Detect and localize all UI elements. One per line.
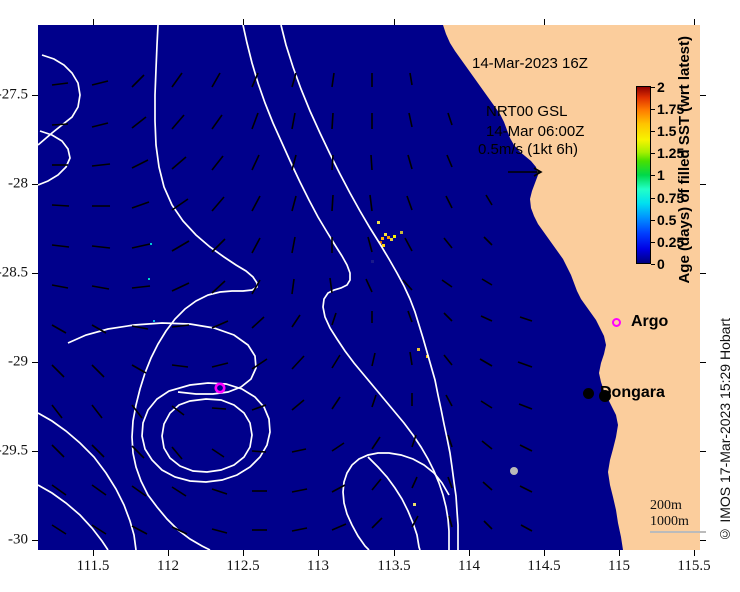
colorbar-tick-0 <box>651 264 655 265</box>
y-tick-right-4 <box>700 451 706 452</box>
argo-float-marker[interactable] <box>216 384 224 392</box>
legend-entry-argo[interactable]: Argo <box>612 313 668 331</box>
x-tick-label-6: 114.5 <box>527 558 560 575</box>
copyright-credit: © IMOS 17-Mar-2023 15:29 Hobart <box>717 318 733 543</box>
x-tick-label-2: 112.5 <box>226 558 259 575</box>
y-tick-4 <box>32 451 38 452</box>
y-tick-right-1 <box>700 184 706 185</box>
colorbar-gradient[interactable] <box>636 86 651 264</box>
colorbar-tick-8 <box>651 87 655 88</box>
x-tick-3 <box>318 550 319 556</box>
colorbar-tick-4 <box>651 175 655 176</box>
colorbar-label-2: 0.5 <box>657 212 676 228</box>
scalebar-label-200m: 200m <box>650 498 706 514</box>
colorbar-label-0: 0 <box>657 256 665 272</box>
colorbar-tick-3 <box>651 198 655 199</box>
y-tick-label-4: -29.5 <box>0 443 28 460</box>
colorbar-tick-5 <box>651 153 655 154</box>
x-tick-label-5: 114 <box>458 558 480 575</box>
colorbar-tick-7 <box>651 109 655 110</box>
y-tick-3 <box>32 362 38 363</box>
x-tick-top-2 <box>243 19 244 25</box>
colorbar-tick-2 <box>651 220 655 221</box>
depth-scalebar: 200m 1000m <box>650 498 706 533</box>
y-tick-label-1: -28 <box>0 176 28 193</box>
legend-label-argo: Argo <box>631 313 668 331</box>
legend-label-dongara: Dongara <box>600 384 665 402</box>
x-tick-top-0 <box>93 19 94 25</box>
x-tick-2 <box>243 550 244 556</box>
x-tick-label-8: 115.5 <box>677 558 710 575</box>
y-tick-right-3 <box>700 362 706 363</box>
dongara-marker-icon <box>583 388 594 399</box>
x-tick-7 <box>619 550 620 556</box>
x-tick-1 <box>168 550 169 556</box>
x-tick-label-3: 113 <box>307 558 329 575</box>
y-tick-right-2 <box>700 273 706 274</box>
y-tick-right-0 <box>700 95 706 96</box>
colorbar-label-8: 2 <box>657 79 665 95</box>
y-tick-2 <box>32 273 38 274</box>
x-tick-6 <box>544 550 545 556</box>
x-tick-top-6 <box>544 19 545 25</box>
x-tick-label-1: 112 <box>157 558 179 575</box>
marker-overlay-layer <box>38 25 700 550</box>
y-tick-5 <box>32 540 38 541</box>
scalebar-label-1000m: 1000m <box>650 514 706 530</box>
x-tick-0 <box>93 550 94 556</box>
x-tick-label-7: 115 <box>608 558 630 575</box>
x-tick-4 <box>394 550 395 556</box>
colorbar-label-4: 1 <box>657 167 665 183</box>
y-tick-label-5: -30 <box>0 532 28 549</box>
colorbar-label-6: 1.5 <box>657 123 676 139</box>
x-tick-label-4: 113.5 <box>377 558 410 575</box>
x-tick-top-8 <box>694 19 695 25</box>
x-tick-8 <box>694 550 695 556</box>
figure-canvas: 14-Mar-2023 16Z NRT00 GSL 14-Mar 06:00Z … <box>0 0 740 592</box>
y-tick-label-3: -29 <box>0 354 28 371</box>
y-tick-right-5 <box>700 540 706 541</box>
legend-entry-dongara: Dongara <box>583 384 665 402</box>
colorbar-title: Age (days) of filled SST (wrt latest) <box>676 36 693 284</box>
y-tick-1 <box>32 184 38 185</box>
colorbar-tick-1 <box>651 242 655 243</box>
y-tick-0 <box>32 95 38 96</box>
x-tick-5 <box>469 550 470 556</box>
y-tick-label-2: -28.5 <box>0 265 28 282</box>
argo-marker-icon <box>612 318 621 327</box>
colorbar[interactable]: 0 0.25 0.5 0.75 1 1.25 1.5 1.75 2 <box>636 86 651 264</box>
scalebar-rule <box>650 531 706 533</box>
x-tick-label-0: 111.5 <box>77 558 110 575</box>
y-tick-label-0: -27.5 <box>0 87 28 104</box>
map-plot-area[interactable]: 14-Mar-2023 16Z NRT00 GSL 14-Mar 06:00Z … <box>38 25 700 550</box>
x-tick-top-4 <box>394 19 395 25</box>
colorbar-tick-6 <box>651 131 655 132</box>
secondary-station-marker <box>510 467 518 475</box>
